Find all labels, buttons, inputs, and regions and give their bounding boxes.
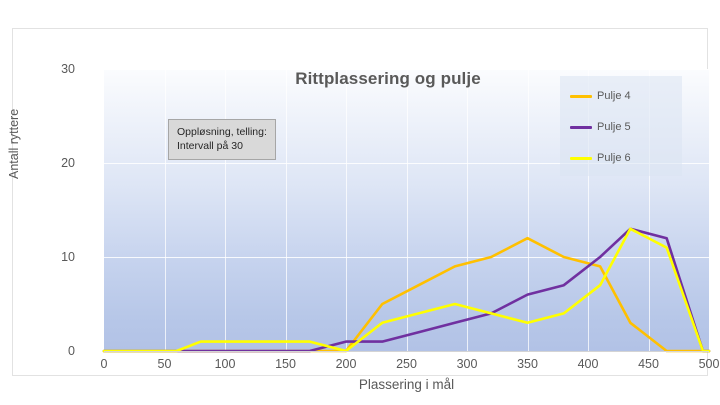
x-axis-tick-label: 400 (578, 357, 599, 371)
y-axis-tick-label: 10 (61, 250, 75, 264)
annotation-textbox: Oppløsning, telling: Intervall på 30 (168, 119, 276, 160)
x-axis-tick-label: 300 (457, 357, 478, 371)
y-axis-tick-label: 0 (68, 344, 75, 358)
x-axis-tick-label: 200 (336, 357, 357, 371)
x-axis-label: Plassering i mål (104, 377, 709, 392)
legend-item-pulje-6[interactable]: Pulje 6 (570, 152, 631, 164)
legend-label: Pulje 4 (597, 90, 631, 102)
chart-frame: Antall ryttere 0102030 05010015020025030… (12, 28, 708, 376)
x-axis-tick-label: 50 (158, 357, 172, 371)
x-axis-tick-label: 500 (699, 357, 720, 371)
legend-item-pulje-4[interactable]: Pulje 4 (570, 90, 631, 102)
x-axis-tick-label: 250 (396, 357, 417, 371)
x-axis-tick-label: 0 (101, 357, 108, 371)
legend-color-swatch (570, 95, 592, 98)
x-axis-tick-label: 150 (275, 357, 296, 371)
annotation-line-2: Intervall på 30 (177, 139, 267, 153)
series-line-pulje-5 (104, 229, 709, 351)
y-axis-tick-label: 20 (61, 156, 75, 170)
x-axis-tick-label: 450 (638, 357, 659, 371)
chart-title: Rittplassering og pulje (243, 69, 533, 89)
legend-label: Pulje 5 (597, 121, 631, 133)
x-axis-line (104, 351, 709, 352)
legend-color-swatch (570, 126, 592, 129)
chart-legend[interactable]: Pulje 4Pulje 5Pulje 6 (560, 76, 682, 176)
legend-color-swatch (570, 157, 592, 160)
legend-label: Pulje 6 (597, 152, 631, 164)
legend-item-pulje-5[interactable]: Pulje 5 (570, 121, 631, 133)
y-axis-tick-label: 30 (61, 62, 75, 76)
x-axis-tick-label: 100 (215, 357, 236, 371)
series-line-pulje-6 (104, 229, 709, 351)
gridline-vertical (709, 69, 710, 351)
y-axis-label: Antall ryttere (7, 109, 21, 179)
annotation-line-1: Oppløsning, telling: (177, 125, 267, 139)
x-axis-tick-label: 350 (517, 357, 538, 371)
